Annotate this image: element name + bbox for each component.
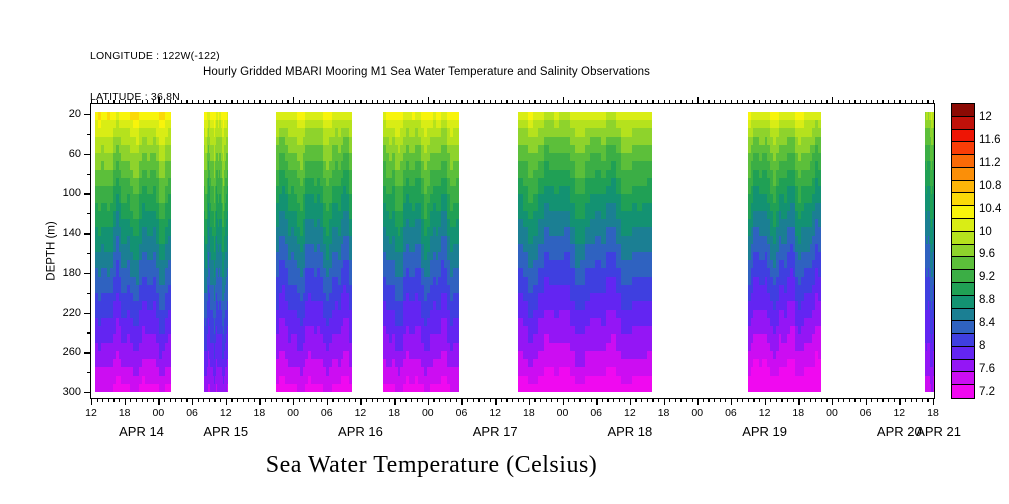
x-axis-tick-top bbox=[321, 100, 322, 104]
x-axis-tick-minor bbox=[804, 398, 805, 402]
x-axis-tick-top bbox=[759, 100, 760, 104]
x-axis-tick-top bbox=[484, 100, 485, 104]
x-axis-tick-top bbox=[400, 100, 401, 104]
x-axis-tick-minor bbox=[97, 398, 98, 402]
y-axis-label: 100 bbox=[63, 187, 81, 199]
x-axis-tick-top bbox=[113, 100, 114, 104]
colorbar-tick-label: 8 bbox=[979, 340, 985, 352]
x-axis-hour-label: 06 bbox=[186, 407, 198, 419]
x-axis-tick-minor bbox=[624, 398, 625, 402]
x-axis-tick-top bbox=[826, 100, 827, 104]
x-axis-tick-minor bbox=[355, 398, 356, 402]
x-axis-tick-minor bbox=[153, 398, 154, 402]
x-axis-tick-minor bbox=[147, 398, 148, 402]
x-axis-tick-top bbox=[490, 100, 491, 104]
x-axis-tick-top bbox=[125, 100, 126, 104]
x-axis-tick-top bbox=[585, 100, 586, 104]
x-axis-tick-top bbox=[708, 100, 709, 104]
x-axis-hour-label: 12 bbox=[355, 407, 367, 419]
x-axis-tick-minor bbox=[781, 398, 782, 402]
x-axis-hour-label: 06 bbox=[321, 407, 333, 419]
colorbar-tick-label: 11.6 bbox=[979, 134, 1001, 146]
y-axis-label: 260 bbox=[63, 346, 81, 358]
colorbar-tick-label: 9.2 bbox=[979, 271, 995, 283]
x-axis-tick-top bbox=[147, 100, 148, 104]
x-axis-tick-minor bbox=[557, 398, 558, 402]
x-axis-hour-label: 18 bbox=[119, 407, 131, 419]
x-axis-tick-top bbox=[209, 100, 210, 104]
x-axis-hour-label: 12 bbox=[85, 407, 97, 419]
x-axis-tick-top bbox=[871, 100, 872, 104]
x-axis-tick-top bbox=[158, 97, 159, 104]
data-column bbox=[518, 112, 653, 392]
x-axis-hour-label: 06 bbox=[860, 407, 872, 419]
x-axis-tick-minor bbox=[203, 398, 204, 402]
x-axis-tick-minor bbox=[894, 398, 895, 402]
x-axis-tick-top bbox=[389, 100, 390, 104]
x-axis-tick-minor bbox=[186, 398, 187, 402]
x-axis-tick-top bbox=[899, 100, 900, 104]
colorbar-tick-label: 10.8 bbox=[979, 180, 1001, 192]
x-axis-tick-minor bbox=[720, 398, 721, 402]
x-axis-tick-major bbox=[664, 398, 665, 405]
x-axis-tick-top bbox=[765, 100, 766, 104]
x-axis-tick-minor bbox=[815, 398, 816, 402]
x-axis-tick-minor bbox=[321, 398, 322, 402]
x-axis-tick-minor bbox=[748, 398, 749, 402]
x-axis-tick-top bbox=[422, 100, 423, 104]
x-axis-tick-top bbox=[450, 100, 451, 104]
x-axis-hour-label: 18 bbox=[254, 407, 266, 419]
y-axis-tick-major bbox=[84, 114, 91, 115]
x-axis-tick-top bbox=[259, 100, 260, 104]
x-axis-tick-major bbox=[798, 398, 799, 405]
x-axis-tick-minor bbox=[102, 398, 103, 402]
x-axis-tick-minor bbox=[490, 398, 491, 402]
x-axis-tick-top bbox=[652, 100, 653, 104]
x-axis-tick-minor bbox=[389, 398, 390, 402]
data-column bbox=[276, 112, 352, 392]
colorbar-cell bbox=[952, 232, 974, 245]
x-axis-hour-label: 12 bbox=[489, 407, 501, 419]
y-axis-tick-major bbox=[84, 352, 91, 353]
x-axis-tick-minor bbox=[450, 398, 451, 402]
x-axis-tick-minor bbox=[512, 398, 513, 402]
colorbar-tick-label: 8.4 bbox=[979, 317, 995, 329]
x-axis-tick-minor bbox=[119, 398, 120, 402]
x-axis-tick-minor bbox=[686, 398, 687, 402]
x-axis-tick-top bbox=[130, 100, 131, 104]
x-axis-tick-minor bbox=[574, 398, 575, 402]
x-axis-tick-minor bbox=[607, 398, 608, 402]
x-axis-tick-top bbox=[781, 100, 782, 104]
x-axis-tick-top bbox=[748, 100, 749, 104]
x-axis-tick-minor bbox=[198, 398, 199, 402]
x-axis-tick-minor bbox=[877, 398, 878, 402]
x-axis-day-label: APR 21 bbox=[916, 424, 961, 439]
colorbar-cell bbox=[952, 104, 974, 117]
x-axis-tick-minor bbox=[164, 398, 165, 402]
colorbar bbox=[951, 103, 975, 399]
x-axis-tick-top bbox=[467, 100, 468, 104]
x-axis-tick-top bbox=[838, 100, 839, 104]
x-axis-tick-minor bbox=[826, 398, 827, 402]
x-axis-tick-top bbox=[428, 97, 429, 104]
x-axis-tick-top bbox=[332, 100, 333, 104]
x-axis-tick-top bbox=[186, 100, 187, 104]
x-axis-hour-label: 18 bbox=[658, 407, 670, 419]
x-axis-day-label: APR 15 bbox=[203, 424, 248, 439]
x-axis-tick-top bbox=[720, 100, 721, 104]
x-axis-tick-top bbox=[798, 100, 799, 104]
x-axis-tick-top bbox=[675, 100, 676, 104]
x-axis-tick-minor bbox=[787, 398, 788, 402]
x-axis-tick-top bbox=[686, 100, 687, 104]
x-axis-hour-label: 18 bbox=[388, 407, 400, 419]
x-axis-tick-minor bbox=[344, 398, 345, 402]
x-axis-tick-top bbox=[417, 100, 418, 104]
x-axis-tick-minor bbox=[214, 398, 215, 402]
x-axis-tick-minor bbox=[467, 398, 468, 402]
x-axis-tick-major bbox=[495, 398, 496, 405]
x-axis-tick-minor bbox=[473, 398, 474, 402]
x-axis-tick-top bbox=[287, 100, 288, 104]
x-axis-tick-top bbox=[518, 100, 519, 104]
x-axis-tick-top bbox=[310, 100, 311, 104]
y-axis-tick-minor bbox=[87, 174, 91, 175]
x-axis-tick-minor bbox=[456, 398, 457, 402]
colorbar-cell bbox=[952, 347, 974, 360]
x-axis-tick-minor bbox=[220, 398, 221, 402]
x-axis-tick-minor bbox=[810, 398, 811, 402]
x-axis-tick-minor bbox=[871, 398, 872, 402]
x-axis-tick-minor bbox=[737, 398, 738, 402]
x-axis-tick-minor bbox=[854, 398, 855, 402]
x-axis-tick-major bbox=[158, 398, 159, 405]
x-axis-tick-top bbox=[108, 100, 109, 104]
x-axis-tick-top bbox=[866, 100, 867, 104]
x-axis-tick-minor bbox=[753, 398, 754, 402]
x-axis-tick-major bbox=[259, 398, 260, 405]
x-axis-tick-minor bbox=[478, 398, 479, 402]
x-axis-tick-top bbox=[181, 100, 182, 104]
x-axis-tick-top bbox=[91, 100, 92, 104]
x-axis-tick-top bbox=[563, 97, 564, 104]
colorbar-cell bbox=[952, 206, 974, 219]
x-axis-tick-minor bbox=[647, 398, 648, 402]
x-axis-tick-minor bbox=[400, 398, 401, 402]
x-axis-tick-top bbox=[579, 100, 580, 104]
x-axis-tick-top bbox=[478, 100, 479, 104]
x-axis-tick-minor bbox=[708, 398, 709, 402]
x-axis-tick-top bbox=[911, 100, 912, 104]
x-axis-tick-top bbox=[630, 100, 631, 104]
x-axis-tick-top bbox=[445, 100, 446, 104]
x-axis-tick-top bbox=[344, 100, 345, 104]
x-axis-tick-minor bbox=[882, 398, 883, 402]
latitude-text: LATITUDE : 36.8N bbox=[90, 91, 220, 105]
x-axis-hour-label: 00 bbox=[287, 407, 299, 419]
y-axis-tick-major bbox=[84, 273, 91, 274]
x-axis-day-label: APR 19 bbox=[742, 424, 787, 439]
x-axis-tick-top bbox=[327, 100, 328, 104]
x-axis-tick-top bbox=[804, 100, 805, 104]
x-axis-tick-minor bbox=[591, 398, 592, 402]
x-axis-tick-top bbox=[680, 100, 681, 104]
x-axis-tick-top bbox=[854, 100, 855, 104]
x-axis-tick-top bbox=[574, 100, 575, 104]
x-axis-tick-minor bbox=[265, 398, 266, 402]
x-axis-tick-top bbox=[737, 100, 738, 104]
x-axis-tick-top bbox=[551, 100, 552, 104]
longitude-text: LONGITUDE : 122W(-122) bbox=[90, 50, 220, 64]
x-axis-tick-top bbox=[546, 100, 547, 104]
x-axis-tick-minor bbox=[585, 398, 586, 402]
x-axis-tick-minor bbox=[843, 398, 844, 402]
colorbar-tick-label: 12 bbox=[979, 111, 992, 123]
y-axis-label: 220 bbox=[63, 307, 81, 319]
x-axis-tick-top bbox=[456, 100, 457, 104]
x-axis-tick-minor bbox=[338, 398, 339, 402]
x-axis-day-label: APR 18 bbox=[607, 424, 652, 439]
data-column bbox=[95, 112, 170, 392]
x-axis-tick-top bbox=[299, 100, 300, 104]
x-axis-tick-top bbox=[198, 100, 199, 104]
x-axis-tick-major bbox=[596, 398, 597, 405]
y-axis-label: 60 bbox=[69, 148, 81, 160]
x-axis-tick-top bbox=[602, 100, 603, 104]
x-axis-tick-top bbox=[658, 100, 659, 104]
x-axis-tick-minor bbox=[652, 398, 653, 402]
x-axis-tick-top bbox=[624, 100, 625, 104]
column-slice bbox=[647, 112, 652, 392]
x-axis-tick-minor bbox=[860, 398, 861, 402]
y-axis-tick-major bbox=[84, 313, 91, 314]
x-axis-tick-top bbox=[495, 100, 496, 104]
x-axis-tick-top bbox=[220, 100, 221, 104]
x-axis-tick-top bbox=[282, 100, 283, 104]
x-axis-tick-top bbox=[669, 100, 670, 104]
x-axis-tick-major bbox=[428, 398, 429, 405]
x-axis-tick-minor bbox=[433, 398, 434, 402]
x-axis-tick-top bbox=[843, 100, 844, 104]
x-axis-tick-minor bbox=[927, 398, 928, 402]
x-axis-tick-minor bbox=[282, 398, 283, 402]
x-axis-tick-major bbox=[899, 398, 900, 405]
x-axis-tick-top bbox=[933, 100, 934, 104]
x-axis-tick-top bbox=[568, 100, 569, 104]
x-axis-tick-major bbox=[630, 398, 631, 405]
x-axis-tick-top bbox=[383, 100, 384, 104]
x-axis-tick-major bbox=[327, 398, 328, 405]
x-axis-tick-top bbox=[922, 100, 923, 104]
x-axis-tick-top bbox=[473, 100, 474, 104]
x-axis-tick-minor bbox=[922, 398, 923, 402]
x-axis-title-text: Sea Water Temperature (Celsius) bbox=[266, 452, 598, 478]
x-axis-tick-top bbox=[523, 100, 524, 104]
x-axis-tick-top bbox=[237, 100, 238, 104]
x-axis-tick-top bbox=[366, 100, 367, 104]
column-slice bbox=[168, 112, 171, 392]
x-axis-tick-top bbox=[534, 100, 535, 104]
x-axis-tick-minor bbox=[635, 398, 636, 402]
x-axis-tick-minor bbox=[417, 398, 418, 402]
x-axis-tick-major bbox=[394, 398, 395, 405]
x-axis-tick-minor bbox=[445, 398, 446, 402]
x-axis-tick-minor bbox=[523, 398, 524, 402]
x-axis-tick-minor bbox=[613, 398, 614, 402]
x-axis-tick-minor bbox=[316, 398, 317, 402]
x-axis-tick-minor bbox=[130, 398, 131, 402]
x-axis-hour-label: 00 bbox=[826, 407, 838, 419]
colorbar-tick-label: 7.2 bbox=[979, 386, 995, 398]
x-axis-tick-major bbox=[563, 398, 564, 405]
colorbar-cell bbox=[952, 334, 974, 347]
colorbar-cell bbox=[952, 309, 974, 322]
x-axis-tick-minor bbox=[506, 398, 507, 402]
x-axis-tick-top bbox=[725, 100, 726, 104]
x-axis-tick-minor bbox=[271, 398, 272, 402]
x-axis-tick-minor bbox=[136, 398, 137, 402]
x-axis-tick-minor bbox=[243, 398, 244, 402]
x-axis-tick-minor bbox=[405, 398, 406, 402]
x-axis-tick-top bbox=[506, 100, 507, 104]
column-slice bbox=[227, 112, 228, 392]
x-axis-hour-label: 18 bbox=[927, 407, 939, 419]
x-axis-tick-minor bbox=[304, 398, 305, 402]
x-axis-tick-minor bbox=[692, 398, 693, 402]
colorbar-tick-label: 7.6 bbox=[979, 363, 995, 375]
x-axis-tick-top bbox=[613, 100, 614, 104]
x-axis-hour-label: 18 bbox=[792, 407, 804, 419]
x-axis-tick-minor bbox=[568, 398, 569, 402]
y-axis-label: 20 bbox=[69, 108, 81, 120]
x-axis-hour-label: 00 bbox=[557, 407, 569, 419]
y-axis-tick-minor bbox=[87, 372, 91, 373]
x-axis-tick-minor bbox=[911, 398, 912, 402]
x-axis-hour-label: 12 bbox=[759, 407, 771, 419]
colorbar-cell bbox=[952, 360, 974, 373]
x-axis-tick-top bbox=[214, 100, 215, 104]
x-axis-tick-top bbox=[293, 97, 294, 104]
y-axis-tick-minor bbox=[87, 332, 91, 333]
x-axis-tick-minor bbox=[619, 398, 620, 402]
y-axis-tick-major bbox=[84, 233, 91, 234]
x-axis-tick-top bbox=[136, 100, 137, 104]
x-axis-tick-minor bbox=[287, 398, 288, 402]
colorbar-cell bbox=[952, 270, 974, 283]
x-axis-tick-minor bbox=[181, 398, 182, 402]
x-axis-tick-top bbox=[231, 100, 232, 104]
x-axis-tick-top bbox=[439, 100, 440, 104]
x-axis-tick-major bbox=[461, 398, 462, 405]
x-axis-tick-minor bbox=[658, 398, 659, 402]
colorbar-tick-label: 9.6 bbox=[979, 248, 995, 260]
colorbar-tick-label: 8.8 bbox=[979, 294, 995, 306]
x-axis-tick-major bbox=[832, 398, 833, 405]
x-axis-hour-label: 06 bbox=[725, 407, 737, 419]
x-axis-tick-minor bbox=[372, 398, 373, 402]
colorbar-cell bbox=[952, 283, 974, 296]
x-axis-tick-minor bbox=[170, 398, 171, 402]
data-column bbox=[383, 112, 459, 392]
x-axis-tick-minor bbox=[254, 398, 255, 402]
x-axis-tick-top bbox=[540, 100, 541, 104]
x-axis-day-label: APR 17 bbox=[473, 424, 518, 439]
x-axis-tick-major bbox=[765, 398, 766, 405]
x-axis-tick-top bbox=[770, 100, 771, 104]
x-axis-tick-minor bbox=[905, 398, 906, 402]
x-axis-tick-top bbox=[591, 100, 592, 104]
x-axis-tick-minor bbox=[237, 398, 238, 402]
x-axis-hour-label: 00 bbox=[422, 407, 434, 419]
y-axis-label: 300 bbox=[63, 386, 81, 398]
colorbar-cell bbox=[952, 219, 974, 232]
x-axis-tick-major bbox=[293, 398, 294, 405]
x-axis-tick-top bbox=[372, 100, 373, 104]
x-axis-tick-top bbox=[316, 100, 317, 104]
x-axis-tick-major bbox=[125, 398, 126, 405]
y-axis-tick-minor bbox=[87, 134, 91, 135]
x-axis-tick-minor bbox=[759, 398, 760, 402]
y-axis-label: 180 bbox=[63, 267, 81, 279]
y-axis-tick-major bbox=[84, 154, 91, 155]
x-axis-tick-top bbox=[905, 100, 906, 104]
x-axis-tick-top bbox=[203, 100, 204, 104]
x-axis-tick-minor bbox=[579, 398, 580, 402]
x-axis-hour-label: 12 bbox=[624, 407, 636, 419]
x-axis-tick-minor bbox=[821, 398, 822, 402]
x-axis-hour-label: 12 bbox=[893, 407, 905, 419]
x-axis-tick-top bbox=[607, 100, 608, 104]
x-axis-tick-top bbox=[394, 100, 395, 104]
x-axis-tick-minor bbox=[540, 398, 541, 402]
x-axis-tick-minor bbox=[725, 398, 726, 402]
x-axis-tick-top bbox=[714, 100, 715, 104]
x-axis-tick-top bbox=[916, 100, 917, 104]
x-axis-tick-minor bbox=[209, 398, 210, 402]
x-axis-tick-top bbox=[355, 100, 356, 104]
x-axis-tick-minor bbox=[484, 398, 485, 402]
heatmap-canvas bbox=[91, 104, 934, 398]
x-axis-tick-top bbox=[175, 100, 176, 104]
x-axis-title: Sea Water Temperature (Celsius) bbox=[0, 452, 1009, 479]
colorbar-cell bbox=[952, 142, 974, 155]
x-axis-hour-label: 18 bbox=[523, 407, 535, 419]
x-axis-tick-top bbox=[529, 100, 530, 104]
x-axis-tick-top bbox=[501, 100, 502, 104]
x-axis-tick-top bbox=[815, 100, 816, 104]
x-axis-tick-top bbox=[164, 100, 165, 104]
x-axis-tick-top bbox=[338, 100, 339, 104]
x-axis-tick-major bbox=[91, 398, 92, 405]
x-axis-day-label: APR 14 bbox=[119, 424, 164, 439]
x-axis-tick-minor bbox=[276, 398, 277, 402]
y-axis-tick-minor bbox=[87, 213, 91, 214]
x-axis-tick-top bbox=[433, 100, 434, 104]
x-axis-tick-top bbox=[97, 100, 98, 104]
x-axis-tick-minor bbox=[776, 398, 777, 402]
colorbar-cell bbox=[952, 385, 974, 398]
x-axis-tick-top bbox=[411, 100, 412, 104]
colorbar-cell bbox=[952, 321, 974, 334]
x-axis-tick-major bbox=[360, 398, 361, 405]
x-axis-tick-minor bbox=[501, 398, 502, 402]
x-axis-tick-major bbox=[731, 398, 732, 405]
x-axis-tick-minor bbox=[602, 398, 603, 402]
y-axis-tick-minor bbox=[87, 253, 91, 254]
colorbar-cell bbox=[952, 130, 974, 143]
